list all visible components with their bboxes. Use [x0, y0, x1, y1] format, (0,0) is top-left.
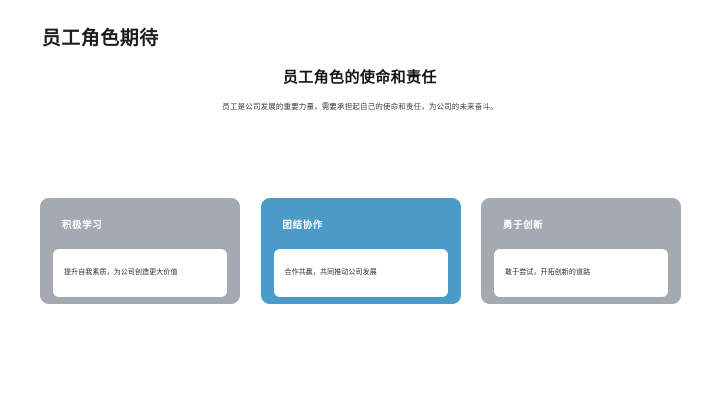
expectation-card-3[interactable]: 勇于创新 敢于尝试，开拓创新的道路 — [481, 198, 681, 304]
card-body-text: 合作共赢，共同推动公司发展 — [285, 267, 377, 279]
card-body-box: 敢于尝试，开拓创新的道路 — [494, 249, 668, 297]
headline-block: 员工角色的使命和责任 员工是公司发展的重要力量，需要承担起自己的使命和责任，为公… — [0, 68, 720, 112]
section-subheadline: 员工是公司发展的重要力量，需要承担起自己的使命和责任，为公司的未来奋斗。 — [0, 102, 720, 113]
card-body-text: 提升自我素质，为公司创造更大价值 — [64, 267, 178, 279]
expectation-card-1[interactable]: 积极学习 提升自我素质，为公司创造更大价值 — [40, 198, 240, 304]
page-title: 员工角色期待 — [42, 28, 159, 51]
card-title: 勇于创新 — [503, 220, 543, 231]
card-body-box: 合作共赢，共同推动公司发展 — [274, 249, 448, 297]
expectation-cards-row: 积极学习 提升自我素质，为公司创造更大价值 团结协作 合作共赢，共同推动公司发展… — [40, 198, 681, 304]
expectation-card-2[interactable]: 团结协作 合作共赢，共同推动公司发展 — [261, 198, 461, 304]
card-body-text: 敢于尝试，开拓创新的道路 — [505, 267, 590, 279]
card-title: 团结协作 — [283, 220, 323, 231]
card-body-box: 提升自我素质，为公司创造更大价值 — [53, 249, 227, 297]
slide-canvas: 员工角色期待 员工角色的使命和责任 员工是公司发展的重要力量，需要承担起自己的使… — [0, 0, 720, 404]
section-headline: 员工角色的使命和责任 — [0, 68, 720, 88]
card-title: 积极学习 — [62, 220, 102, 231]
